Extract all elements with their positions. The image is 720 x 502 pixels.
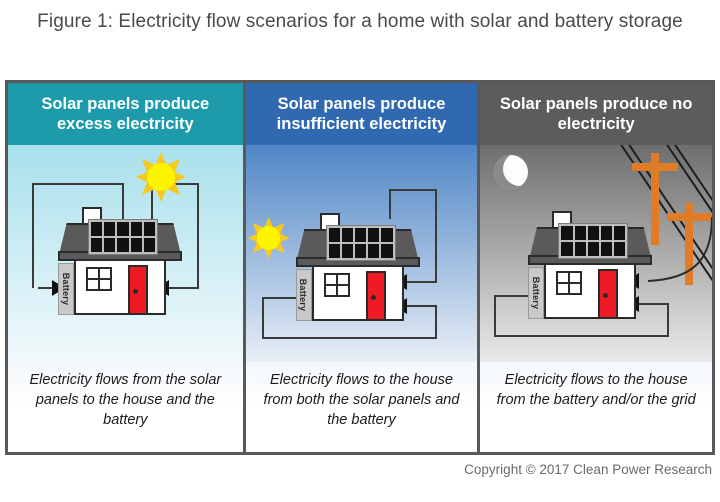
house-illustration: Battery: [58, 207, 182, 317]
figure-root: Figure 1: Electricity flow scenarios for…: [0, 0, 720, 502]
wire-left-top: [32, 183, 124, 185]
solar-panel-array: [326, 225, 396, 261]
solar-panel-array: [558, 223, 628, 259]
window-icon: [324, 273, 350, 297]
door-knob-icon: [603, 293, 608, 298]
battery-label: Battery: [61, 273, 71, 305]
panel-header-excess: Solar panels produce excess electricity: [8, 83, 243, 145]
scenario-panel-excess: Solar panels produce excess electricity: [8, 83, 243, 452]
panel-scene-excess: Battery: [8, 145, 243, 362]
panel-caption-excess: Electricity flows from the solar panels …: [8, 362, 243, 452]
wire-battery-left: [494, 295, 496, 337]
battery-unit: Battery: [296, 269, 312, 321]
wire-left-vertical: [32, 183, 34, 288]
door-knob-icon: [133, 289, 138, 294]
door-shape: [598, 269, 618, 319]
window-icon: [86, 267, 112, 291]
wire-battery-bottom: [262, 337, 437, 339]
wire-battery-right: [435, 305, 437, 339]
wire-right-vertical: [197, 183, 199, 288]
wire-battery-right: [667, 303, 669, 337]
wire-solar-down: [435, 189, 437, 281]
panel-scene-none: Battery: [480, 145, 712, 362]
solar-panel-array: [88, 219, 158, 255]
battery-unit: Battery: [58, 263, 74, 315]
wire-battery-top: [262, 297, 298, 299]
panel-caption-insufficient: Electricity flows to the house from both…: [246, 362, 478, 452]
house-illustration: Battery: [528, 211, 652, 321]
figure-title: Figure 1: Electricity flow scenarios for…: [0, 8, 720, 35]
wire-battery-left: [262, 297, 264, 339]
battery-label: Battery: [299, 279, 309, 311]
sun-icon: [248, 217, 290, 259]
sun-icon: [136, 152, 186, 202]
scenario-panel-frame: Solar panels produce excess electricity: [5, 80, 715, 455]
door-knob-icon: [371, 295, 376, 300]
door-shape: [366, 271, 386, 321]
scenario-panel-none: Solar panels produce no electricity: [477, 83, 712, 452]
door-shape: [128, 265, 148, 315]
panel-header-none: Solar panels produce no electricity: [480, 83, 712, 145]
sky-background: Battery: [8, 145, 243, 362]
battery-label: Battery: [531, 277, 541, 309]
panel-scene-insufficient: Battery: [246, 145, 478, 362]
utility-pole-crossbar: [632, 163, 678, 171]
panel-header-insufficient: Solar panels produce insufficient electr…: [246, 83, 478, 145]
house-illustration: Battery: [296, 213, 420, 323]
wire-solar-top: [389, 189, 437, 191]
window-icon: [556, 271, 582, 295]
panel-caption-none: Electricity flows to the house from the …: [480, 362, 712, 452]
wire-battery-bottom: [494, 335, 669, 337]
sky-background: Battery: [246, 145, 478, 362]
copyright-notice: Copyright © 2017 Clean Power Research: [0, 462, 712, 477]
wire-battery-top: [494, 295, 532, 297]
battery-unit: Battery: [528, 267, 544, 319]
scenario-panel-insufficient: Solar panels produce insufficient electr…: [243, 83, 478, 452]
moon-icon: [494, 155, 528, 189]
sky-background: Battery: [480, 145, 712, 362]
